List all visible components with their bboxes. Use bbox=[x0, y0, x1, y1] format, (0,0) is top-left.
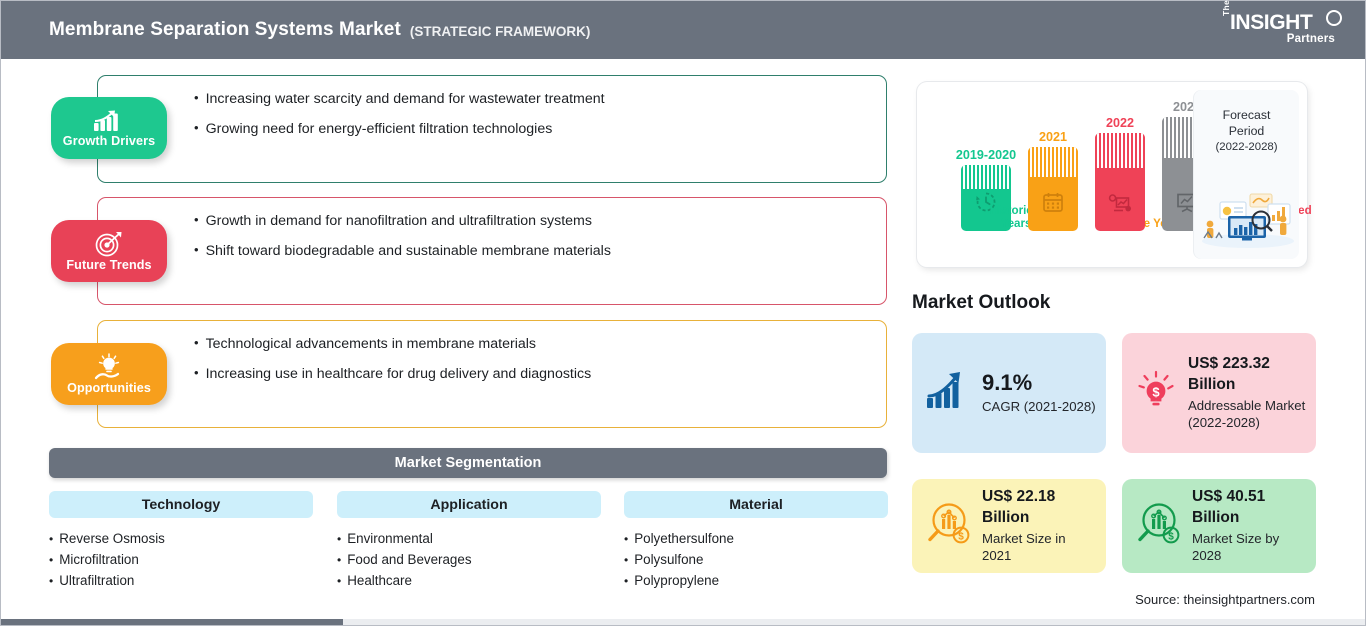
forecast-title: Forecast Period bbox=[1194, 107, 1299, 139]
outlook-value: US$ 22.18 Billion bbox=[982, 488, 1055, 525]
bar-stripe-pattern bbox=[1095, 133, 1145, 168]
segment-title: Technology bbox=[49, 491, 313, 518]
forecast-subtitle: (2022-2028) bbox=[1194, 141, 1299, 153]
badge-opportunities[interactable]: Opportunities bbox=[51, 343, 167, 405]
panel-growth-drivers: •Increasing water scarcity and demand fo… bbox=[97, 75, 887, 183]
segmentation-column-application: Application •Environmental •Food and Bev… bbox=[337, 491, 601, 591]
list-item: •Healthcare bbox=[337, 571, 601, 592]
list-item: •Reverse Osmosis bbox=[49, 529, 313, 550]
segmentation-column-technology: Technology •Reverse Osmosis •Microfiltra… bbox=[49, 491, 313, 591]
bar-stripe-pattern bbox=[1028, 147, 1078, 177]
badge-label: Future Trends bbox=[66, 258, 151, 272]
logo-insight-text: INSIGHT bbox=[1230, 11, 1312, 35]
timeline-bar-estimated: 2022 Estimated Year bbox=[1095, 116, 1145, 231]
logo-circle-icon bbox=[1326, 10, 1342, 26]
svg-text:$: $ bbox=[1168, 531, 1174, 542]
outlook-card-market-size-2028[interactable]: $ US$ 40.51 Billion Market Size by 2028 bbox=[1122, 479, 1316, 573]
outlook-value: US$ 40.51 Billion bbox=[1192, 488, 1265, 525]
panel-opportunities: •Technological advancements in membrane … bbox=[97, 320, 887, 428]
lightbulb-hand-icon bbox=[93, 353, 125, 380]
bullet-item: •Growing need for energy-efficient filtr… bbox=[194, 120, 605, 139]
outlook-label: CAGR (2021-2028) bbox=[982, 398, 1098, 415]
list-item: •Food and Beverages bbox=[337, 550, 601, 571]
outlook-label: Market Size by 2028 bbox=[1192, 530, 1308, 565]
bar-year-label: 2022 bbox=[1106, 116, 1134, 130]
magnifier-chart-dollar-icon: $ bbox=[1135, 502, 1181, 551]
segmentation-column-material: Material •Polyethersulfone •Polysulfone … bbox=[624, 491, 888, 591]
badge-label: Growth Drivers bbox=[63, 134, 155, 148]
market-segmentation-header: Market Segmentation bbox=[49, 448, 887, 478]
calendar-icon bbox=[1042, 191, 1064, 218]
bullet-item: •Growth in demand for nanofiltration and… bbox=[194, 212, 611, 231]
source-text: Source: theinsightpartners.com bbox=[1135, 592, 1315, 607]
outlook-label: Addressable Market (2022-2028) bbox=[1188, 397, 1308, 432]
timeline-bar-base: 2021 bbox=[1028, 130, 1078, 231]
badge-future-trends[interactable]: Future Trends bbox=[51, 220, 167, 282]
timeline-bars: 2019-2020 Historical Years bbox=[931, 82, 1163, 267]
growth-bar-chart-icon bbox=[925, 371, 971, 416]
page-header: Membrane Separation Systems Market (STRA… bbox=[1, 1, 1365, 59]
panel-growth-bullets: •Increasing water scarcity and demand fo… bbox=[194, 90, 605, 149]
logo-partners-text: Partners bbox=[1287, 33, 1335, 45]
outlook-label: Market Size in 2021 bbox=[982, 530, 1098, 565]
bar bbox=[1095, 133, 1145, 231]
panel-trends-bullets: •Growth in demand for nanofiltration and… bbox=[194, 212, 611, 271]
bar-year-label: 2019-2020 bbox=[956, 148, 1016, 162]
outlook-card-market-size-2021[interactable]: $ US$ 22.18 Billion Market Size in 2021 bbox=[912, 479, 1106, 573]
segment-title: Application bbox=[337, 491, 601, 518]
target-dart-icon bbox=[94, 231, 124, 257]
timeline-bar-historical: 2019-2020 Historical Years bbox=[961, 148, 1011, 231]
bar-year-label: 2021 bbox=[1039, 130, 1067, 144]
list-item: •Ultrafiltration bbox=[49, 571, 313, 592]
gear-growth-chart-icon bbox=[1108, 193, 1132, 218]
outlook-value: US$ 223.32 Billion bbox=[1188, 355, 1270, 392]
outlook-value: 9.1% bbox=[982, 370, 1032, 395]
panel-opportunities-bullets: •Technological advancements in membrane … bbox=[194, 335, 591, 394]
list-item: •Environmental bbox=[337, 529, 601, 550]
bar bbox=[1028, 147, 1078, 231]
bar-stripe-pattern bbox=[961, 165, 1011, 189]
horizontal-scrollbar[interactable] bbox=[1, 619, 1365, 625]
page-title: Membrane Separation Systems Market bbox=[49, 19, 401, 41]
bullet-item: •Increasing water scarcity and demand fo… bbox=[194, 90, 605, 109]
bullet-item: •Shift toward biodegradable and sustaina… bbox=[194, 242, 611, 261]
infographic-page: Membrane Separation Systems Market (STRA… bbox=[0, 0, 1366, 626]
list-item: •Polyethersulfone bbox=[624, 529, 888, 550]
forecast-period-panel: Forecast Period (2022-2028) bbox=[1194, 90, 1299, 259]
badge-growth-drivers[interactable]: Growth Drivers bbox=[51, 97, 167, 159]
bullet-item: •Increasing use in healthcare for drug d… bbox=[194, 365, 591, 384]
lightbulb-dollar-icon: $ bbox=[1135, 370, 1177, 417]
segment-title: Material bbox=[624, 491, 888, 518]
scrollbar-thumb[interactable] bbox=[1, 619, 343, 625]
list-item: •Polypropylene bbox=[624, 571, 888, 592]
magnifier-chart-dollar-icon: $ bbox=[925, 502, 971, 551]
bar-chart-arrow-icon bbox=[92, 109, 126, 133]
market-outlook-heading: Market Outlook bbox=[912, 292, 1050, 314]
list-item: •Microfiltration bbox=[49, 550, 313, 571]
list-item: •Polysulfone bbox=[624, 550, 888, 571]
bullet-item: •Technological advancements in membrane … bbox=[194, 335, 591, 354]
outlook-card-cagr[interactable]: 9.1% CAGR (2021-2028) bbox=[912, 333, 1106, 453]
market-timeline-chart: 2019-2020 Historical Years bbox=[917, 82, 1307, 267]
outlook-card-addressable-market[interactable]: $ US$ 223.32 Billion Addressable Market … bbox=[1122, 333, 1316, 453]
badge-label: Opportunities bbox=[67, 381, 151, 395]
svg-text:$: $ bbox=[1152, 384, 1160, 399]
svg-text:$: $ bbox=[958, 531, 964, 542]
business-analytics-illustration bbox=[1198, 186, 1295, 253]
insight-partners-logo[interactable]: The INSIGHT Partners bbox=[1221, 9, 1343, 51]
page-subtitle: (STRATEGIC FRAMEWORK) bbox=[410, 21, 590, 39]
panel-future-trends: •Growth in demand for nanofiltration and… bbox=[97, 197, 887, 305]
